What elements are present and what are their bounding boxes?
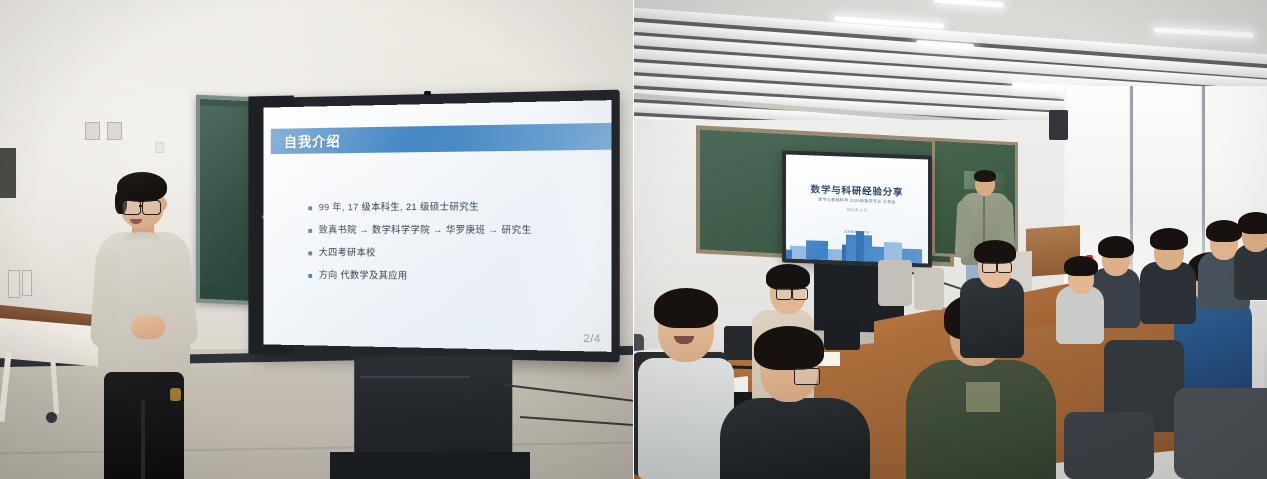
student-hair bbox=[1206, 220, 1242, 242]
student-body bbox=[1234, 244, 1267, 300]
student-body bbox=[1140, 262, 1196, 324]
glasses-icon bbox=[792, 288, 808, 300]
wall-mark bbox=[155, 142, 164, 153]
display-screen: 自我介绍 99 年, 17 级本科生, 21 级硕士研究生 致真书院 → 数学科… bbox=[263, 100, 611, 352]
desk-caster-wheel bbox=[46, 412, 57, 423]
jacket-patch bbox=[966, 382, 1000, 412]
student-hair bbox=[1064, 256, 1098, 276]
photo-collage: 自我介绍 99 年, 17 级本科生, 21 级硕士研究生 致真书院 → 数学科… bbox=[0, 0, 1267, 479]
screen-glare bbox=[263, 100, 611, 352]
speaker-hair bbox=[974, 170, 996, 182]
wall-frame bbox=[0, 148, 16, 198]
wall-plate bbox=[8, 270, 20, 298]
ceiling-led-tube bbox=[934, 0, 1004, 7]
wall-outlet bbox=[107, 122, 122, 140]
glasses-bridge-icon bbox=[139, 205, 143, 207]
wall-plate bbox=[22, 270, 32, 296]
student-hair bbox=[754, 326, 824, 370]
student-body bbox=[1056, 286, 1104, 344]
student-hair bbox=[654, 288, 718, 328]
ceiling-led-tube bbox=[1154, 27, 1254, 37]
student-hair bbox=[1238, 212, 1267, 234]
display-camera-icon bbox=[424, 91, 431, 95]
classroom-chair bbox=[914, 268, 944, 310]
display-stand-seam bbox=[360, 376, 470, 378]
classroom-chair bbox=[878, 260, 912, 306]
display-stand-base bbox=[330, 452, 530, 479]
chair-back bbox=[1064, 412, 1154, 479]
wall-outlet bbox=[85, 122, 100, 140]
classroom-floor bbox=[0, 349, 633, 479]
glasses-icon bbox=[142, 200, 161, 215]
left-photo-classroom-presentation: 自我介绍 99 年, 17 级本科生, 21 级硕士研究生 致真书院 → 数学科… bbox=[0, 0, 633, 479]
right-photo-classroom-audience: 数学与科研经验分享 数学与基础科学 2024级数学专业 分享会 2024 年 1… bbox=[634, 0, 1267, 479]
backpack-on-table bbox=[824, 318, 860, 350]
glasses-icon bbox=[776, 288, 792, 300]
panel-divider bbox=[633, 0, 634, 479]
side-desk-body bbox=[0, 317, 98, 366]
display-stand-column bbox=[354, 355, 512, 457]
student-green-jacket bbox=[906, 360, 1056, 479]
student-hair bbox=[1098, 236, 1134, 258]
chair-back bbox=[1174, 388, 1267, 479]
sweater-collar bbox=[124, 232, 162, 245]
student-hair bbox=[974, 240, 1016, 264]
student-dark-hoodie bbox=[720, 398, 870, 479]
presenter-clasped-hands bbox=[131, 315, 165, 339]
glasses-icon bbox=[982, 262, 997, 273]
student-jacket bbox=[960, 278, 1024, 358]
student-hair bbox=[1150, 228, 1188, 250]
trouser-logo-patch bbox=[170, 388, 181, 401]
glasses-icon bbox=[997, 262, 1012, 273]
trouser-seam bbox=[141, 400, 145, 479]
wall-speaker-box bbox=[1049, 110, 1068, 140]
glasses-icon bbox=[794, 368, 820, 385]
student-hair bbox=[766, 264, 810, 290]
glasses-icon bbox=[122, 200, 141, 215]
screen-glare bbox=[786, 155, 928, 264]
